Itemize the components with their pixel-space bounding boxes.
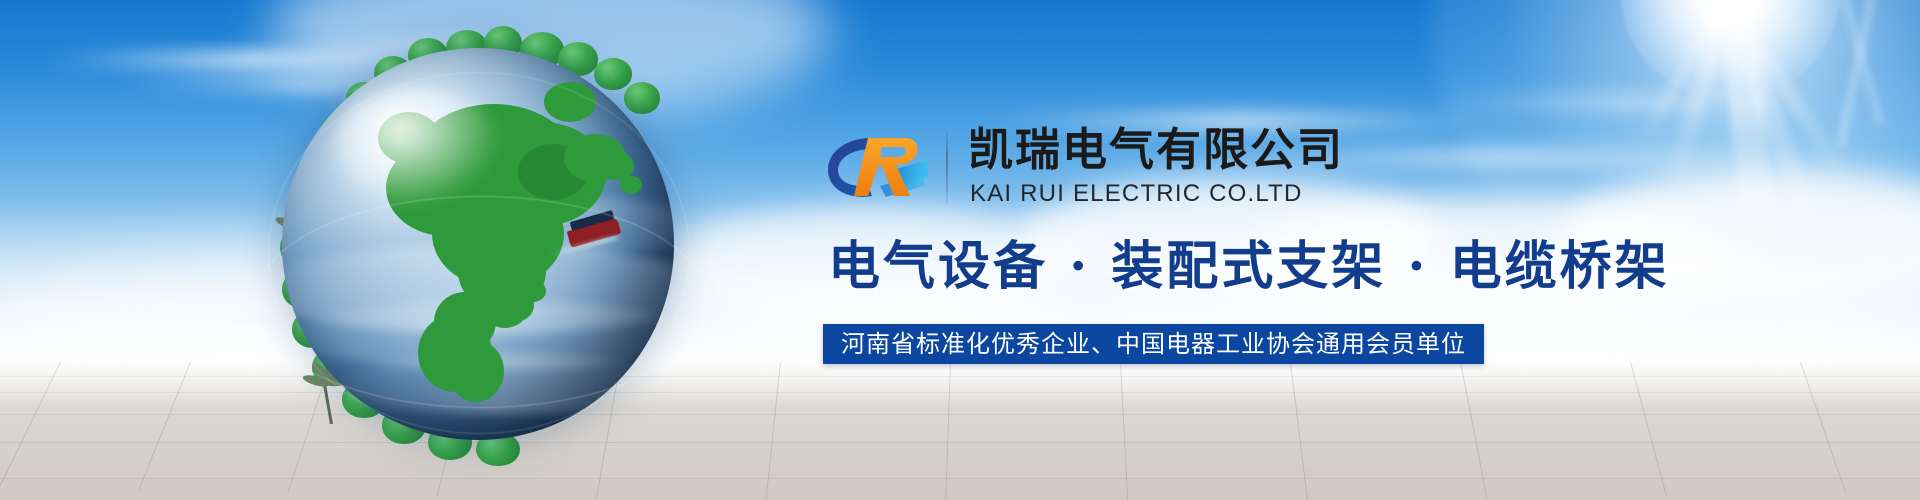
company-name-en: KAI RUI ELECTRIC CO.LTD bbox=[970, 180, 1303, 208]
credentials-badge: 河南省标准化优秀企业、中国电器工业协会通用会员单位 bbox=[823, 324, 1484, 364]
logo-divider bbox=[946, 130, 948, 204]
cr-monogram-logo-icon[interactable] bbox=[824, 130, 934, 202]
banner-tagline: 电气设备 · 装配式支架 · 电缆桥架 bbox=[828, 236, 1670, 298]
green-earth-globe bbox=[258, 28, 698, 474]
company-hero-banner: 凯瑞电气有限公司 KAI RUI ELECTRIC CO.LTD 电气设备 · … bbox=[0, 0, 1920, 500]
company-logo-lockup[interactable]: 凯瑞电气有限公司 KAI RUI ELECTRIC CO.LTD bbox=[824, 124, 1464, 216]
credentials-badge-text: 河南省标准化优秀企业、中国电器工业协会通用会员单位 bbox=[841, 330, 1466, 358]
company-name-cn: 凯瑞电气有限公司 bbox=[968, 124, 1344, 176]
orbit-arc bbox=[268, 72, 690, 434]
